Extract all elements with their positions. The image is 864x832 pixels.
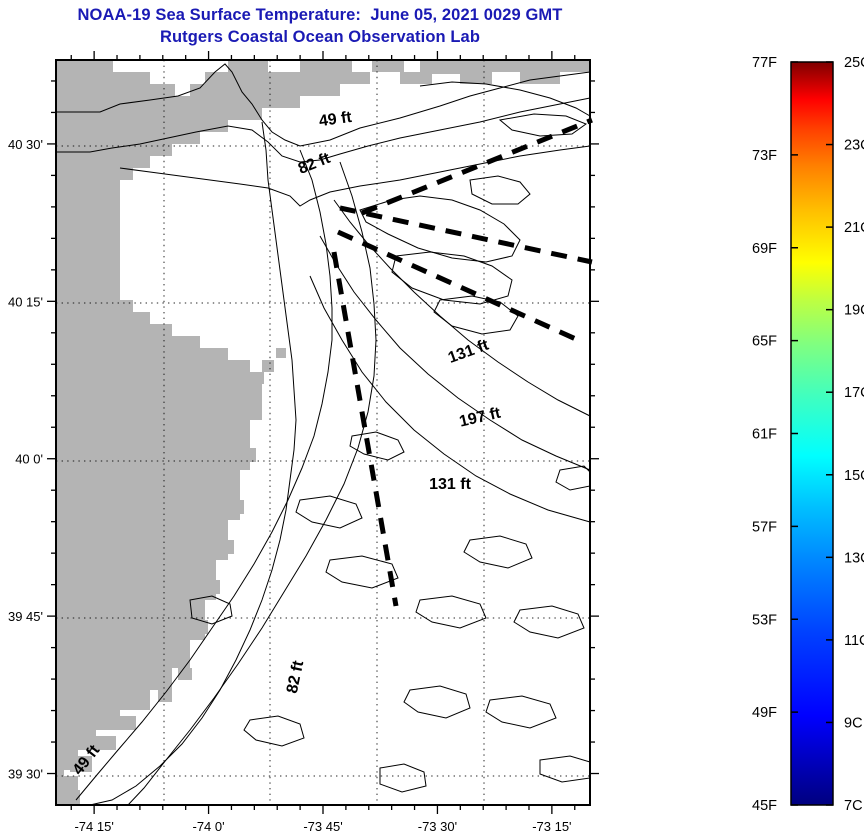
colorbar-fahrenheit-label: 69F — [752, 241, 777, 257]
colorbar-fahrenheit-label: 61F — [752, 427, 777, 443]
land-pixel — [60, 776, 78, 792]
x-axis-label: -74 15' — [74, 819, 113, 832]
colorbar-fahrenheit-label: 49F — [752, 705, 777, 721]
land-pixel — [430, 62, 470, 74]
x-axis-label: -73 15' — [532, 819, 571, 832]
land-pixel — [244, 448, 256, 462]
colorbar-panel: 77F73F69F65F61F57F53F49F45F 25C23C21C19C… — [640, 0, 864, 832]
y-axis-label: 40 0' — [15, 452, 43, 467]
land-pixel — [120, 716, 136, 730]
colorbar-fahrenheit-label: 65F — [752, 334, 777, 350]
x-axis-label: -73 30' — [418, 819, 457, 832]
colorbar-celsius-label: 19C — [844, 303, 864, 319]
colorbar-celsius-label: 17C — [844, 385, 864, 401]
land-pixel — [208, 580, 220, 594]
y-axis-label: 39 45' — [8, 609, 43, 624]
land-pixel — [56, 790, 80, 805]
land-pixel — [262, 360, 274, 372]
land-pixel — [222, 540, 234, 554]
colorbar-fahrenheit-label: 77F — [752, 55, 777, 71]
x-axis-label: -73 45' — [303, 819, 342, 832]
colorbar-celsius-label: 25C — [844, 55, 864, 71]
colorbar-svg: 77F73F69F65F61F57F53F49F45F 25C23C21C19C… — [640, 0, 864, 832]
colorbar-celsius-label: 23C — [844, 138, 864, 154]
colorbar-fahrenheit-label: 73F — [752, 148, 777, 164]
land-pixel — [250, 372, 264, 384]
colorbar-celsius-label: 21C — [844, 220, 864, 236]
land-pixel — [232, 500, 244, 514]
land-pixel — [276, 348, 286, 358]
y-axis-label: 39 30' — [8, 767, 43, 782]
colorbar-celsius-label: 9C — [844, 715, 863, 731]
y-axis-label: 40 30' — [8, 137, 43, 152]
colorbar-fahrenheit-label: 53F — [752, 612, 777, 628]
land-pixel — [96, 736, 116, 750]
land-pixel — [500, 62, 530, 72]
y-axis-label: 40 15' — [8, 294, 43, 309]
colorbar-fahrenheit-label: 57F — [752, 519, 777, 535]
depth-contour-label: 131 ft — [429, 476, 471, 493]
colorbar-celsius-label: 7C — [844, 798, 863, 814]
x-axis-label: -74 0' — [193, 819, 225, 832]
land-pixel — [158, 690, 172, 702]
colorbar-celsius-label: 15C — [844, 468, 864, 484]
colorbar-celsius-label: 13C — [844, 550, 864, 566]
colorbar-fahrenheit-label: 45F — [752, 798, 777, 814]
sst-map-svg: 49 ft82 ft131 ft197 ft131 ft82 ft49 ft -… — [0, 0, 640, 832]
sst-map-panel: 49 ft82 ft131 ft197 ft131 ft82 ft49 ft -… — [0, 0, 640, 832]
colorbar-celsius-label: 11C — [844, 633, 864, 649]
